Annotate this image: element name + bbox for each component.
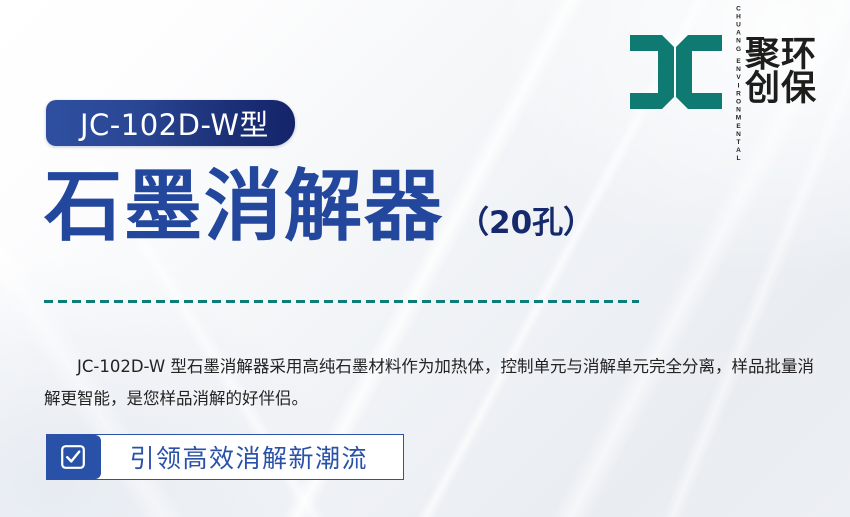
tagline-bar: 引领高效消解新潮流 [46, 434, 404, 480]
company-logo: JU CHUANG ENVIRONMENTAL 聚环 创保 [628, 22, 833, 122]
model-number-label: JC-102D-W型 [80, 102, 269, 144]
product-banner: JU CHUANG ENVIRONMENTAL 聚环 创保 JC-102D-W型… [0, 0, 850, 517]
dashed-divider [44, 300, 639, 303]
logo-cn-line-1: 聚环 [745, 38, 817, 72]
logo-vertical-line-2: ENVIRONMENTAL [726, 58, 741, 163]
model-number-badge: JC-102D-W型 [46, 100, 295, 146]
product-title-suffix: （20孔） [458, 197, 594, 242]
logo-cn-line-2: 创保 [745, 72, 817, 106]
product-title: 石墨消解器 （20孔） [44, 168, 594, 246]
logo-vertical-line-1: JU CHUANG [726, 0, 741, 54]
checkbox-checked-icon [46, 435, 101, 479]
tagline-text: 引领高效消解新潮流 [101, 439, 404, 475]
product-description: JC-102D-W 型石墨消解器采用高纯石墨材料作为加热体，控制单元与消解单元完… [44, 351, 814, 415]
jc-monogram-icon [628, 31, 724, 113]
logo-chinese-name: 聚环 创保 [745, 38, 817, 107]
product-title-main: 石墨消解器 [44, 168, 444, 246]
logo-vertical-latin: JU CHUANG ENVIRONMENTAL [726, 31, 741, 113]
